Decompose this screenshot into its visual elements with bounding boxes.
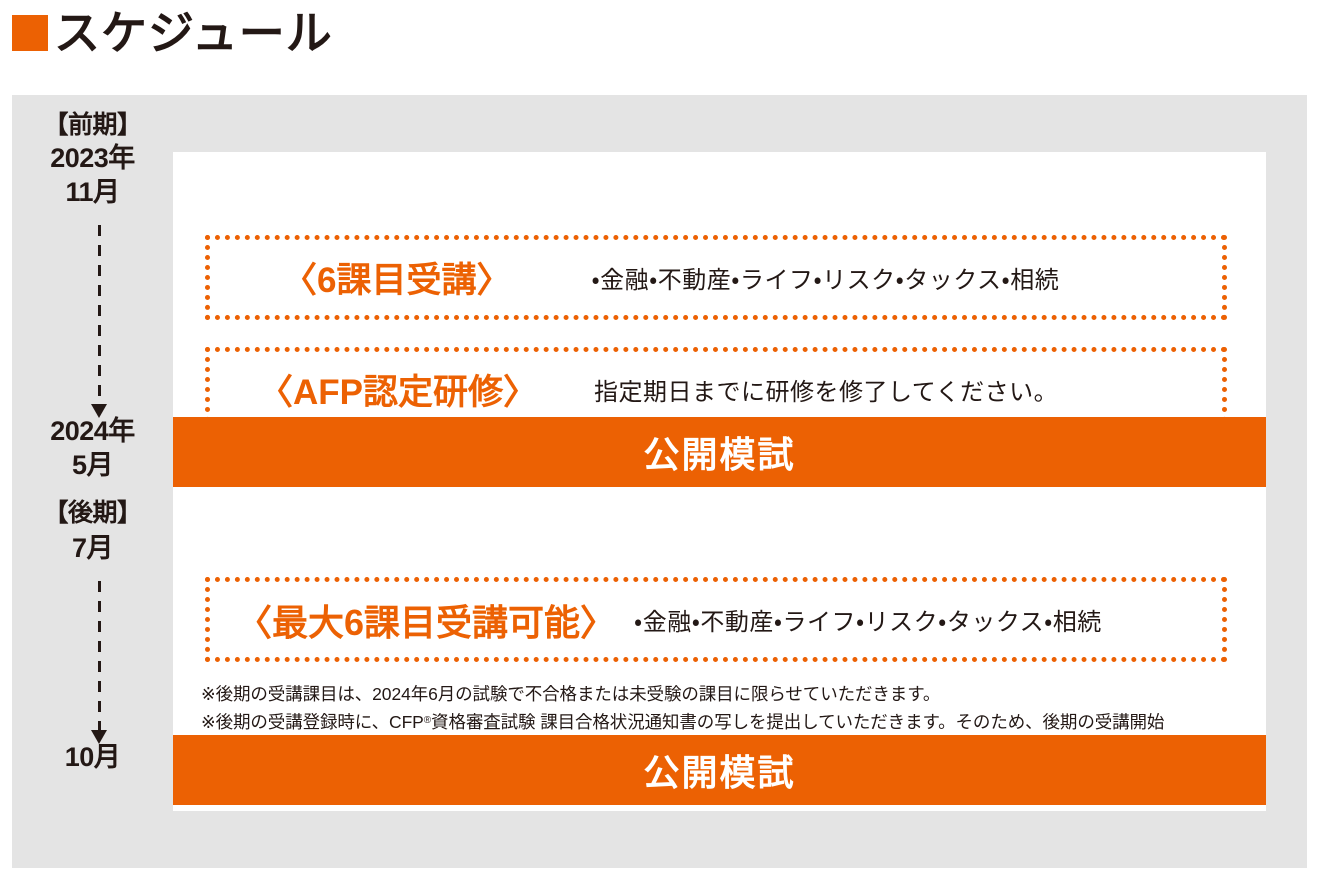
course-box-6-subjects-description: ・金融・不動産・ライフ・リスク・タックス・相続 [591, 260, 1059, 295]
timeline-entry-2-bracket: 【後期】 [12, 497, 173, 528]
timeline-entry-0-year: 2023年 [12, 143, 173, 174]
note-marker: ※ [201, 684, 216, 704]
mock-exam-bar-2: 公開模試 [173, 735, 1266, 805]
timeline-entry-3-month: 10月 [12, 742, 173, 773]
timeline-entry-1-month: 5月 [12, 450, 173, 481]
note-line-2-text-part2: 資格審査試験 課目合格状況通知書の写しを提出していただきます。そのため、後期の受… [431, 712, 1164, 732]
timeline-entry-2-month: 7月 [12, 533, 173, 564]
note-line-1: ※後期の受講課目は、2024年6月の試験で不合格または未受験の課目に限らせていた… [201, 680, 1241, 708]
timeline-arrow-1 [98, 225, 101, 405]
orange-square-bullet-icon [12, 15, 48, 51]
course-box-afp-training-title: 〈AFP認定研修〉 [258, 364, 538, 415]
course-box-6-subjects: 〈6課目受講〉 ・金融・不動産・ライフ・リスク・タックス・相続 [205, 235, 1227, 320]
registered-trademark-icon: ® [424, 715, 431, 726]
page-title-text: スケジュール [54, 10, 333, 56]
mock-exam-bar-1-label: 公開模試 [643, 426, 795, 478]
mock-exam-bar-1: 公開模試 [173, 417, 1266, 487]
mock-exam-bar-2-label: 公開模試 [643, 744, 795, 796]
course-box-6-subjects-title: 〈6課目受講〉 [282, 252, 511, 303]
timeline-arrow-2 [98, 581, 101, 731]
note-line-2-text-part1: 後期の受講登録時に、CFP [216, 712, 424, 732]
schedule-panel: 【前期】 2023年 11月 2024年 5月 【後期】 7月 10月 [12, 95, 1307, 868]
course-box-afp-training-description: 指定期日までに研修を修了してください。 [594, 372, 1058, 407]
page-title: スケジュール [12, 2, 333, 64]
timeline-entry-0-month: 11月 [12, 177, 173, 208]
timeline-entry-0-bracket: 【前期】 [12, 109, 173, 140]
note-line-1-text: 後期の受講課目は、2024年6月の試験で不合格または未受験の課目に限らせていただ… [216, 684, 941, 704]
timeline-column: 【前期】 2023年 11月 2024年 5月 【後期】 7月 10月 [12, 95, 173, 868]
course-box-max-6-subjects-title: 〈最大6課目受講可能〉 [236, 594, 616, 646]
note-marker: ※ [201, 712, 216, 732]
course-box-max-6-subjects: 〈最大6課目受講可能〉 ・金融・不動産・ライフ・リスク・タックス・相続 [205, 577, 1227, 662]
course-box-max-6-subjects-description: ・金融・不動産・ライフ・リスク・タックス・相続 [634, 602, 1102, 637]
timeline-entry-1-year: 2024年 [12, 416, 173, 447]
